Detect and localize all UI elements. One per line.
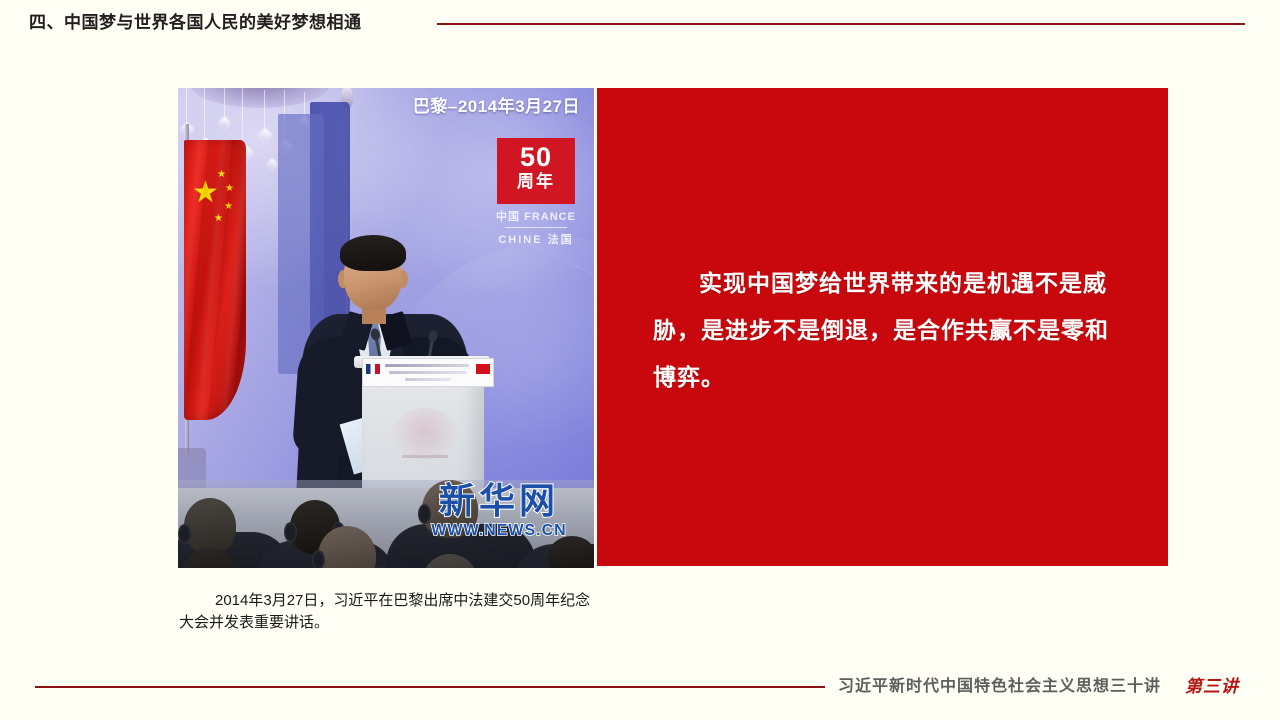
slide-header: 四、中国梦与世界各国人民的美好梦想相通: [0, 0, 1280, 48]
anniversary-divider: [505, 227, 567, 228]
flag-star-small-4: ★: [214, 214, 223, 224]
quote-panel: 实现中国梦给世界带来的是机遇不是威胁，是进步不是倒退，是合作共赢不是零和博弈。: [597, 88, 1168, 566]
flag-star-small-3: ★: [224, 202, 233, 212]
anniversary-label: 周年: [497, 171, 575, 193]
podium-flag-france-icon: [366, 364, 380, 374]
speaker-hair: [340, 235, 406, 271]
audience-headphone-icon: [312, 550, 325, 568]
anniversary-countries-line1: 中国 FRANCE: [494, 208, 578, 224]
photo-xi-jinping-paris: ★ ★ ★ ★ ★: [178, 88, 594, 568]
anniversary-number: 50: [497, 143, 575, 171]
quote-text: 实现中国梦给世界带来的是机遇不是威胁，是进步不是倒退，是合作共赢不是零和博弈。: [653, 260, 1124, 401]
slide-root: 四、中国梦与世界各国人民的美好梦想相通: [0, 0, 1280, 720]
photo-caption: 2014年3月27日，习近平在巴黎出席中法建交50周年纪念大会并发表重要讲话。: [179, 590, 599, 634]
photo-date-overlay: 巴黎–2014年3月27日: [413, 92, 580, 117]
podium-banner: [362, 358, 494, 387]
watermark-url-text: WWW.NEWS.CN: [414, 522, 584, 540]
footer-lecture-number: 第三讲: [1185, 674, 1239, 700]
anniversary-logo: 50 周年 中国 FRANCE CHINE 法国: [494, 138, 578, 247]
flag-star-small-2: ★: [225, 184, 234, 194]
news-watermark: 新华网 WWW.NEWS.CN: [414, 480, 584, 540]
audience-headphone-icon: [178, 524, 191, 544]
page-title: 四、中国梦与世界各国人民的美好梦想相通: [29, 12, 362, 34]
audience-headphone-icon: [284, 522, 297, 542]
flag-china: ★ ★ ★ ★ ★: [184, 140, 246, 420]
audience-head: [184, 498, 236, 554]
audience-head: [548, 536, 594, 568]
anniversary-countries-line2: CHINE 法国: [494, 231, 578, 247]
header-divider-line: [437, 23, 1245, 25]
slide-footer: 习近平新时代中国特色社会主义思想三十讲 第三讲: [0, 672, 1280, 720]
watermark-chinese-text: 新华网: [414, 480, 584, 522]
podium-flag-china-icon: [476, 364, 490, 374]
flag-star-large: ★: [192, 178, 219, 208]
flag-star-small-1: ★: [217, 170, 226, 180]
footer-series-title: 习近平新时代中国特色社会主义思想三十讲: [838, 675, 1161, 699]
chandelier-body: [190, 88, 330, 108]
footer-divider-line: [35, 686, 825, 688]
anniversary-logo-box: 50 周年: [497, 138, 575, 204]
